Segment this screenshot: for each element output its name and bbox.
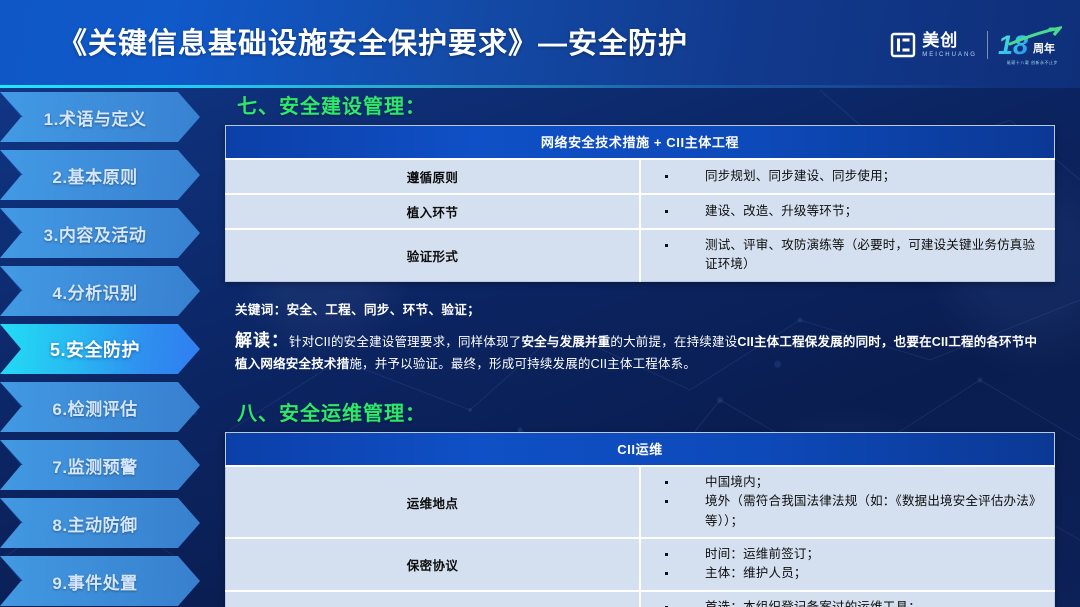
bullet-list: 同步规划、同步建设、同步使用； [659, 167, 1046, 186]
sidebar-nav: 1.术语与定义 2.基本原则 3.内容及活动 4.分析识别 5.安全防护 6.检… [0, 88, 215, 607]
row-key: 验证形式 [226, 229, 641, 281]
row-key: 植入环节 [226, 194, 641, 229]
interpretation-line: 解读：针对CII的安全建设管理要求，同样体现了安全与发展并重的大前提，在持续建设… [235, 327, 1045, 374]
keywords-line: 关键词：安全、工程、同步、环节、验证； [235, 299, 1045, 318]
note-box-seven: 关键词：安全、工程、同步、环节、验证； 解读：针对CII的安全建设管理要求，同样… [225, 291, 1055, 383]
bullet-list: 测试、评审、攻防演练等（必要时，可建设关键业务仿真验证环境） [659, 236, 1046, 275]
brand-name-en: MEICHUANG [922, 52, 977, 58]
sidebar-item-label: 5.安全防护 [50, 336, 140, 362]
brand-text: 美创 MEICHUANG [922, 32, 977, 58]
section-heading: 七、安全建设管理： [237, 90, 1070, 119]
row-value: 中国境内； 境外（需符合我国法律法规（如：《数据出境安全评估办法》等））； [640, 466, 1055, 538]
row-key: 运维地点 [226, 466, 641, 538]
interpretation-body: 针对CII的安全建设管理要求，同样体现了安全与发展并重的大前提，在持续建设CII… [235, 335, 1037, 371]
table-header-label: CII运维 [226, 432, 1055, 466]
bullet-item: 同步规划、同步建设、同步使用； [659, 167, 1046, 186]
table-row: 运维工具 首选：本组织登记备案过的运维工具； 其次：未登记备案（使用前通过恶意代… [226, 591, 1055, 607]
main-content: 七、安全建设管理： 网络安全技术措施 + CII主体工程 遵循原则 同步规划、同… [225, 90, 1070, 607]
table-header-label: 网络安全技术措施 + CII主体工程 [226, 126, 1055, 160]
anniversary-badge: 18 周年 砥砺十八载 创新永不止步 [998, 32, 1058, 59]
keywords-label: 关键词： [235, 303, 287, 317]
sidebar-item-2[interactable]: 2.基本原则 [0, 150, 200, 200]
table-header-row: CII运维 [226, 432, 1055, 466]
meichuang-logo-icon [890, 32, 916, 58]
sidebar-item-label: 7.监测预警 [52, 453, 137, 478]
bullet-item: 测试、评审、攻防演练等（必要时，可建设关键业务仿真验证环境） [659, 236, 1046, 275]
row-key: 保密协议 [226, 538, 641, 591]
keywords-value: 安全、工程、同步、环节、验证； [287, 303, 481, 317]
row-value: 测试、评审、攻防演练等（必要时，可建设关键业务仿真验证环境） [640, 229, 1055, 281]
sidebar-item-label: 1.术语与定义 [44, 105, 147, 130]
sidebar-item-label: 3.内容及活动 [44, 221, 147, 246]
row-key: 遵循原则 [226, 159, 641, 194]
section-heading: 八、安全运维管理： [237, 397, 1070, 426]
sidebar-item-6[interactable]: 6.检测评估 [0, 382, 200, 432]
bullet-item: 主体：维护人员； [659, 564, 1046, 583]
slide-root: 《关键信息基础设施安全保护要求》—安全防护 美创 MEICHUANG [0, 0, 1080, 607]
swoosh-icon [1008, 26, 1062, 46]
section-eight: 八、安全运维管理： CII运维 运维地点 中国境内； 境外（需符合我国法律法规（… [225, 397, 1070, 607]
bullet-item: 首选：本组织登记备案过的运维工具； [659, 598, 1046, 607]
table-row: 运维地点 中国境内； 境外（需符合我国法律法规（如：《数据出境安全评估办法》等）… [226, 466, 1055, 538]
table-row: 保密协议 时间：运维前签订； 主体：维护人员； [226, 538, 1055, 591]
bullet-item: 境外（需符合我国法律法规（如：《数据出境安全评估办法》等））； [659, 492, 1046, 531]
table-row: 遵循原则 同步规划、同步建设、同步使用； [226, 159, 1055, 194]
page-title: 《关键信息基础设施安全保护要求》—安全防护 [58, 20, 688, 62]
table-row: 植入环节 建设、改造、升级等环节； [226, 194, 1055, 229]
brand-logo: 美创 MEICHUANG 18 周年 砥砺十八载 创新永不止步 [890, 24, 1058, 66]
logo-divider [987, 31, 988, 59]
row-value: 首选：本组织登记备案过的运维工具； 其次：未登记备案（使用前通过恶意代码检测等测… [640, 591, 1055, 607]
sidebar-item-3[interactable]: 3.内容及活动 [0, 208, 200, 258]
bullet-list: 建设、改造、升级等环节； [659, 202, 1046, 221]
section-seven: 七、安全建设管理： 网络安全技术措施 + CII主体工程 遵循原则 同步规划、同… [225, 90, 1070, 383]
table-header-row: 网络安全技术措施 + CII主体工程 [226, 126, 1055, 160]
interpretation-label: 解读 [235, 331, 271, 350]
table-security-construction: 网络安全技术措施 + CII主体工程 遵循原则 同步规划、同步建设、同步使用； … [225, 125, 1055, 282]
interpretation-colon: ： [271, 331, 289, 350]
row-value: 时间：运维前签订； 主体：维护人员； [640, 538, 1055, 591]
sidebar-item-1[interactable]: 1.术语与定义 [0, 92, 200, 142]
sidebar-item-7[interactable]: 7.监测预警 [0, 440, 200, 490]
brand-name-cn: 美创 [922, 32, 977, 49]
slide-header: 《关键信息基础设施安全保护要求》—安全防护 美创 MEICHUANG [0, 0, 1080, 88]
anniversary-subtext: 砥砺十八载 创新永不止步 [1007, 60, 1058, 66]
sidebar-item-5[interactable]: 5.安全防护 [0, 324, 200, 374]
sidebar-item-label: 6.检测评估 [52, 395, 137, 420]
table-row: 验证形式 测试、评审、攻防演练等（必要时，可建设关键业务仿真验证环境） [226, 229, 1055, 281]
row-key: 运维工具 [226, 591, 641, 607]
logo-mark: 美创 MEICHUANG [890, 32, 977, 58]
bullet-list: 中国境内； 境外（需符合我国法律法规（如：《数据出境安全评估办法》等））； [659, 473, 1046, 531]
sidebar-item-4[interactable]: 4.分析识别 [0, 266, 200, 316]
bullet-item: 中国境内； [659, 473, 1046, 492]
bullet-list: 时间：运维前签订； 主体：维护人员； [659, 545, 1046, 584]
sidebar-item-9[interactable]: 9.事件处置 [0, 556, 200, 606]
table-security-operations: CII运维 运维地点 中国境内； 境外（需符合我国法律法规（如：《数据出境安全评… [225, 432, 1055, 607]
sidebar-item-8[interactable]: 8.主动防御 [0, 498, 200, 548]
sidebar-item-label: 8.主动防御 [52, 511, 137, 536]
bullet-list: 首选：本组织登记备案过的运维工具； 其次：未登记备案（使用前通过恶意代码检测等测… [659, 598, 1046, 607]
sidebar-item-label: 2.基本原则 [52, 163, 137, 188]
bullet-item: 时间：运维前签订； [659, 545, 1046, 564]
row-value: 同步规划、同步建设、同步使用； [640, 159, 1055, 194]
bullet-item: 建设、改造、升级等环节； [659, 202, 1046, 221]
sidebar-item-label: 9.事件处置 [52, 569, 137, 594]
sidebar-item-label: 4.分析识别 [52, 279, 137, 304]
row-value: 建设、改造、升级等环节； [640, 194, 1055, 229]
